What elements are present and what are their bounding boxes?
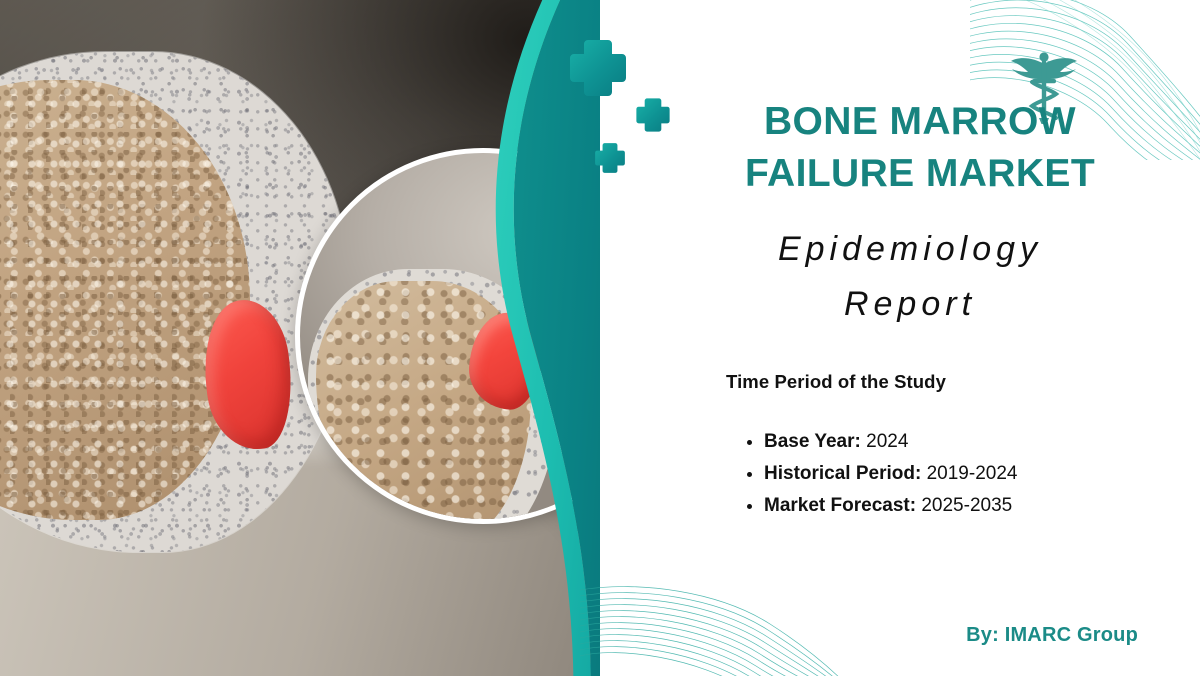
decorative-wave-lines-bottom bbox=[580, 552, 880, 676]
section-heading: Time Period of the Study bbox=[726, 371, 946, 393]
page-subtitle: Epidemiology Report bbox=[685, 222, 1135, 332]
byline: By: IMARC Group bbox=[966, 624, 1138, 647]
list-item-label: Market Forecast: bbox=[764, 495, 916, 516]
list-item: Base Year: 2024 bbox=[764, 426, 1194, 458]
subtitle-line-1: Epidemiology bbox=[685, 222, 1135, 277]
list-item-value: 2019-2024 bbox=[927, 463, 1018, 484]
poster-canvas: BONE MARROW FAILURE MARKET Epidemiology … bbox=[0, 0, 1200, 676]
list-item-value: 2024 bbox=[866, 431, 908, 452]
study-period-list: Base Year: 2024 Historical Period: 2019-… bbox=[740, 426, 1194, 522]
trabecular-bone-layer bbox=[0, 80, 250, 520]
content-panel: BONE MARROW FAILURE MARKET Epidemiology … bbox=[600, 0, 1200, 676]
subtitle-line-2: Report bbox=[685, 277, 1135, 332]
list-item: Historical Period: 2019-2024 bbox=[764, 458, 1194, 490]
page-title: BONE MARROW FAILURE MARKET bbox=[685, 96, 1155, 200]
medical-cross-icon-large bbox=[566, 36, 630, 100]
list-item-label: Historical Period: bbox=[764, 463, 921, 484]
list-item-value: 2025-2035 bbox=[921, 495, 1012, 516]
title-line-2: FAILURE MARKET bbox=[685, 148, 1155, 200]
title-line-1: BONE MARROW bbox=[685, 96, 1155, 148]
medical-cross-icon-medium bbox=[634, 96, 672, 134]
list-item-label: Base Year: bbox=[764, 431, 861, 452]
list-item: Market Forecast: 2025-2035 bbox=[764, 490, 1194, 522]
medical-cross-icon-small bbox=[593, 141, 627, 175]
